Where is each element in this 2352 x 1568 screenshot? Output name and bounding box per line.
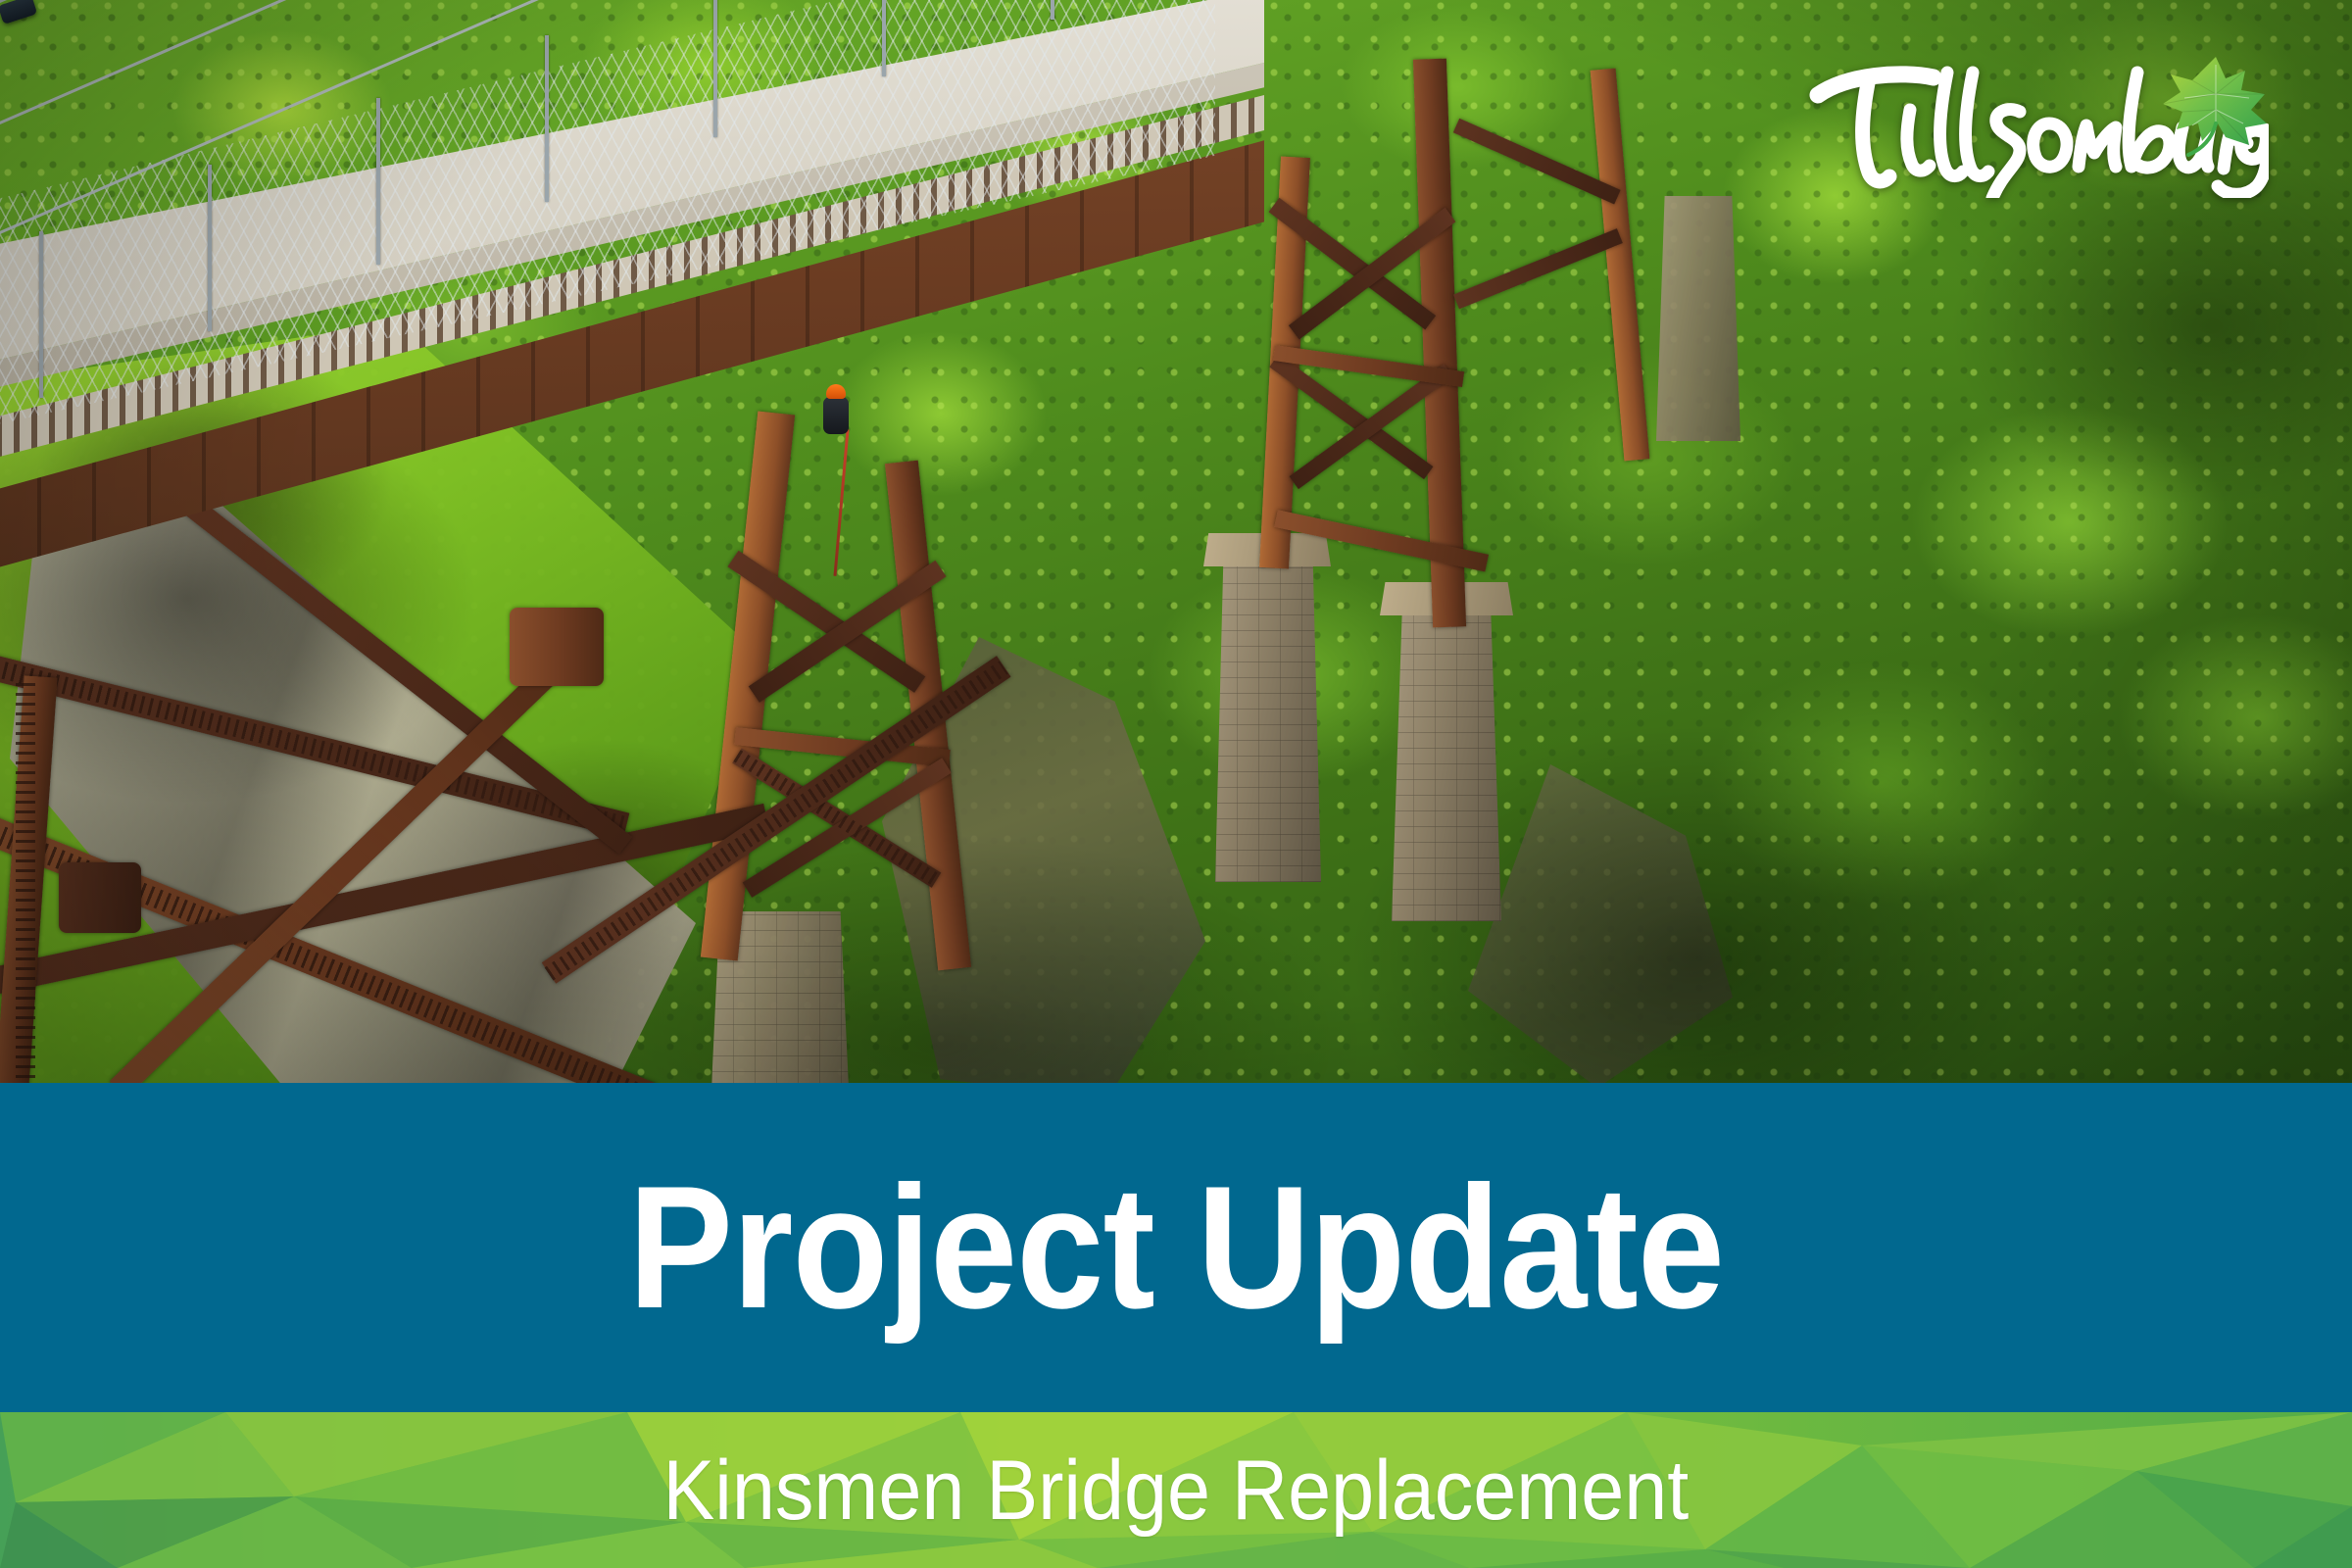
bridge-aerial-photo	[0, 0, 2352, 1088]
page-subtitle: Kinsmen Bridge Replacement	[0, 1412, 2352, 1568]
page-subtitle-text: Kinsmen Bridge Replacement	[663, 1448, 1690, 1533]
green-maple-leaf-icon	[2159, 55, 2269, 163]
page-title: Project Update	[0, 1083, 2352, 1412]
poster: Project Update	[0, 0, 2352, 1568]
tillsonburg-logo	[1808, 51, 2298, 198]
page-title-text: Project Update	[628, 1160, 1724, 1335]
